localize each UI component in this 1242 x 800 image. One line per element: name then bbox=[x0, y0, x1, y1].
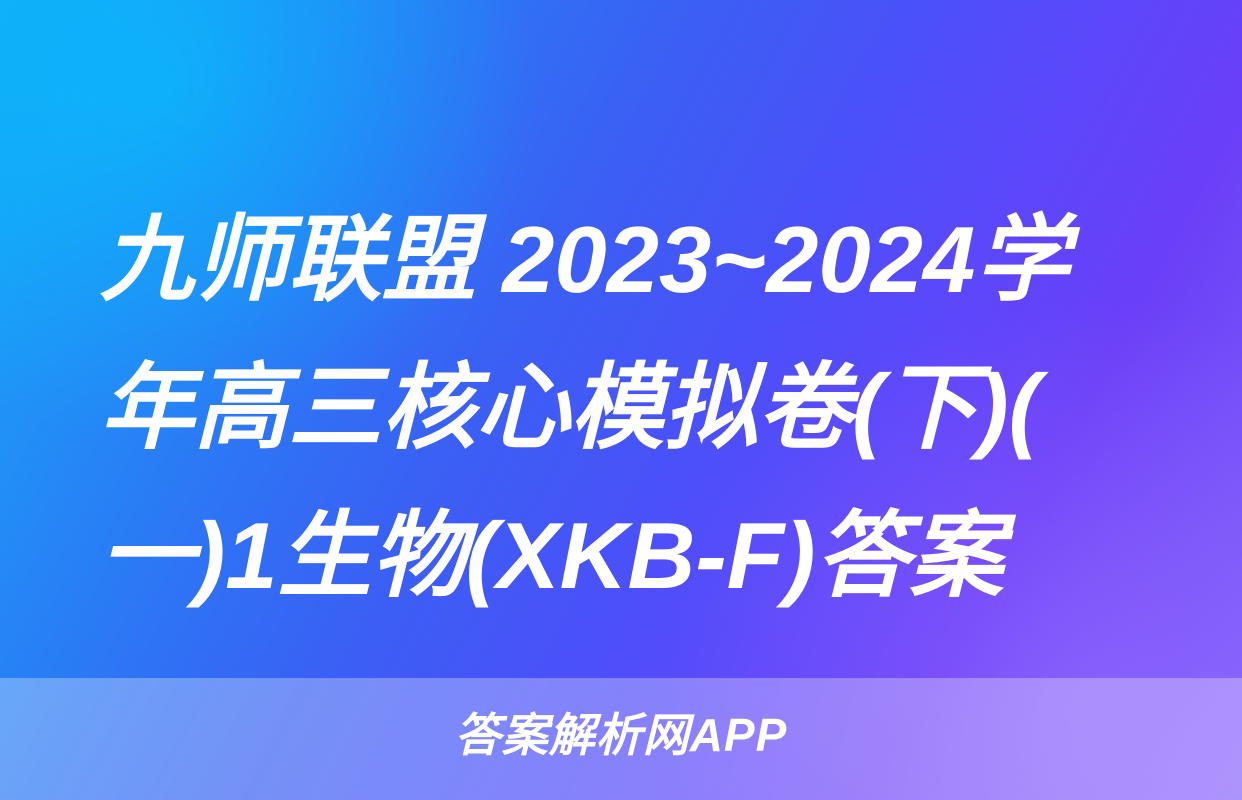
poster-canvas: 九师联盟 2023~2024学 年高三核心模拟卷(下)( 一)1生物(XKB-F… bbox=[0, 0, 1242, 800]
title-line-2: 年高三核心模拟卷(下)( bbox=[100, 334, 1170, 482]
poster-title: 九师联盟 2023~2024学 年高三核心模拟卷(下)( 一)1生物(XKB-F… bbox=[100, 186, 1170, 630]
title-line-1: 九师联盟 2023~2024学 bbox=[100, 186, 1170, 334]
title-line-3: 一)1生物(XKB-F)答案 bbox=[100, 482, 1170, 630]
watermark-brand: 答案解析网APP bbox=[0, 705, 1242, 765]
